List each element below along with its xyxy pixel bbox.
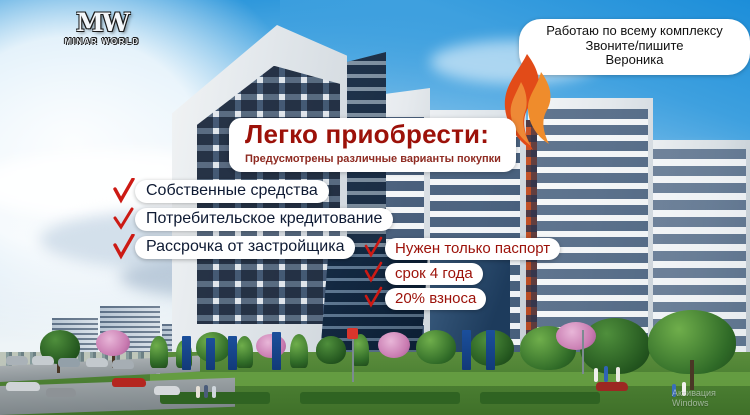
street-banner xyxy=(228,336,237,370)
car xyxy=(6,382,40,391)
installment-term-label: Нужен только паспорт xyxy=(385,238,560,260)
installment-term-item: Нужен только паспорт xyxy=(363,236,560,262)
tree xyxy=(236,336,253,368)
traffic-sign xyxy=(347,328,358,339)
contact-line-2: Звоните/пишите xyxy=(527,39,742,54)
payment-option-item: Рассрочка от застройщика xyxy=(113,234,355,260)
hedge xyxy=(480,392,600,404)
installment-term-item: 20% взноса xyxy=(363,286,486,312)
car xyxy=(6,356,28,365)
person xyxy=(212,386,216,398)
tree xyxy=(316,336,346,364)
car xyxy=(112,378,146,387)
person xyxy=(604,366,608,382)
checkmark-icon xyxy=(363,261,385,287)
street-banner xyxy=(272,332,281,370)
car xyxy=(46,388,76,397)
installment-term-label: срок 4 года xyxy=(385,263,483,285)
checkmark-icon xyxy=(363,286,385,312)
tree xyxy=(290,334,308,368)
watermark-line-1: Активация Windows xyxy=(672,388,746,409)
installment-term-item: срок 4 года xyxy=(363,261,483,287)
checkmark-icon xyxy=(113,234,135,260)
brand-monogram: MW xyxy=(62,10,142,35)
brand-logo: MW MINAR WORLD xyxy=(62,10,142,52)
tree xyxy=(416,330,456,364)
brand-wordmark: MINAR WORLD xyxy=(62,37,142,46)
street-banner xyxy=(486,330,495,370)
page-title: Легко приобрести: xyxy=(245,119,489,150)
person xyxy=(594,368,598,382)
payment-option-item: Потребительское кредитование xyxy=(113,206,393,232)
person xyxy=(196,386,200,398)
headline-card: Легко приобрести: Предусмотрены различны… xyxy=(229,118,516,172)
person xyxy=(204,385,208,398)
blossom-tree xyxy=(378,332,410,358)
checkmark-icon xyxy=(113,178,135,204)
car xyxy=(58,358,80,367)
payment-option-label: Рассрочка от застройщика xyxy=(135,236,355,259)
car xyxy=(596,382,628,391)
car xyxy=(86,358,108,367)
windows-activation-watermark: Активация Windows xyxy=(672,388,746,409)
blossom-tree xyxy=(256,334,286,358)
street-banner xyxy=(462,330,471,370)
payment-option-label: Собственные средства xyxy=(135,180,329,203)
checkmark-icon xyxy=(113,206,135,232)
blossom-tree xyxy=(556,322,596,350)
street-banner xyxy=(182,336,191,370)
person xyxy=(616,367,620,382)
payment-option-label: Потребительское кредитование xyxy=(135,208,393,231)
blossom-tree xyxy=(96,330,130,356)
car xyxy=(32,356,54,365)
tree xyxy=(150,336,168,368)
hedge xyxy=(300,392,460,404)
car xyxy=(112,360,134,369)
payment-option-item: Собственные средства xyxy=(113,178,329,204)
contact-line-1: Работаю по всему комплексу xyxy=(527,24,742,39)
street-banner xyxy=(206,338,215,370)
page-subtitle: Предусмотрены различные варианты покупки xyxy=(245,153,501,165)
checkmark-icon xyxy=(363,236,385,262)
promo-banner: MW MINAR WORLD Работаю по всему комплекс… xyxy=(0,0,750,415)
lawn-strip xyxy=(150,372,750,386)
car xyxy=(154,386,180,395)
installment-term-label: 20% взноса xyxy=(385,288,486,310)
